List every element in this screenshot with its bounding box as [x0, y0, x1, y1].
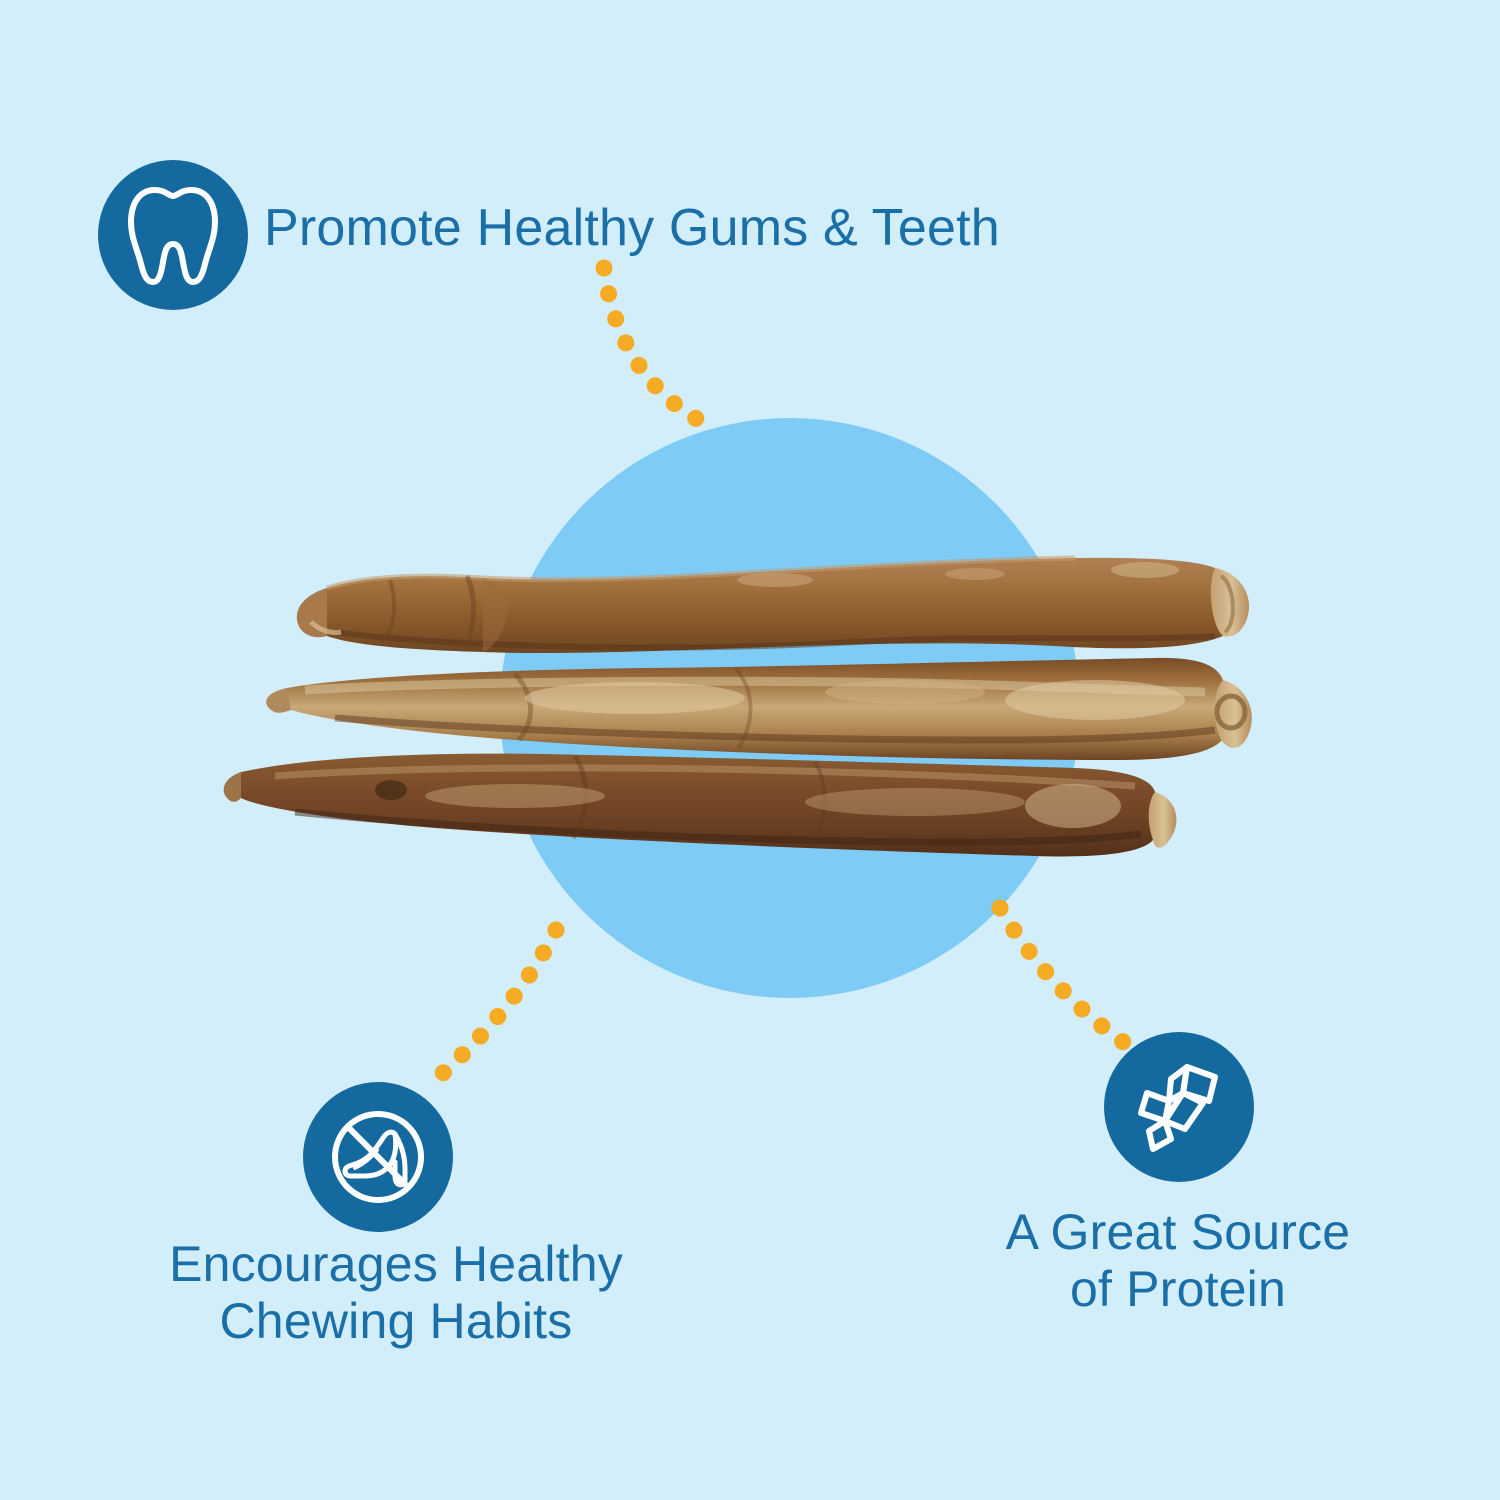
- tooth-icon: [125, 182, 221, 288]
- benefit-badge-protein[interactable]: [1104, 1032, 1254, 1182]
- protein-ribbon-icon: [1127, 1055, 1231, 1159]
- bully-stick-top: [297, 558, 1249, 653]
- bully-stick-middle: [266, 658, 1252, 760]
- benefit-label-protein-line-2: of Protein: [948, 1261, 1408, 1318]
- product-image: [215, 540, 1275, 880]
- no-shoe-icon: [325, 1104, 431, 1210]
- dotted-connector-chewing: [424, 930, 556, 1090]
- dotted-connector-teeth: [604, 268, 706, 424]
- benefit-label-chewing-line-2: Chewing Habits: [120, 1293, 672, 1350]
- benefit-label-teeth-line-1: Promote Healthy Gums & Teeth: [264, 199, 1000, 258]
- benefit-label-teeth: Promote Healthy Gums & Teeth: [264, 199, 1000, 258]
- benefit-badge-chewing[interactable]: [303, 1082, 453, 1232]
- benefit-badge-teeth[interactable]: [98, 160, 248, 310]
- benefit-label-protein-line-1: A Great Source: [948, 1204, 1408, 1261]
- benefit-label-chewing-line-1: Encourages Healthy: [120, 1236, 672, 1293]
- bully-stick-bottom: [224, 754, 1177, 857]
- infographic-canvas: Promote Healthy Gums & Teeth Encourages …: [0, 0, 1500, 1500]
- benefit-label-chewing: Encourages Healthy Chewing Habits: [120, 1236, 672, 1350]
- dotted-connector-protein: [1000, 908, 1132, 1048]
- benefit-label-protein: A Great Source of Protein: [948, 1204, 1408, 1318]
